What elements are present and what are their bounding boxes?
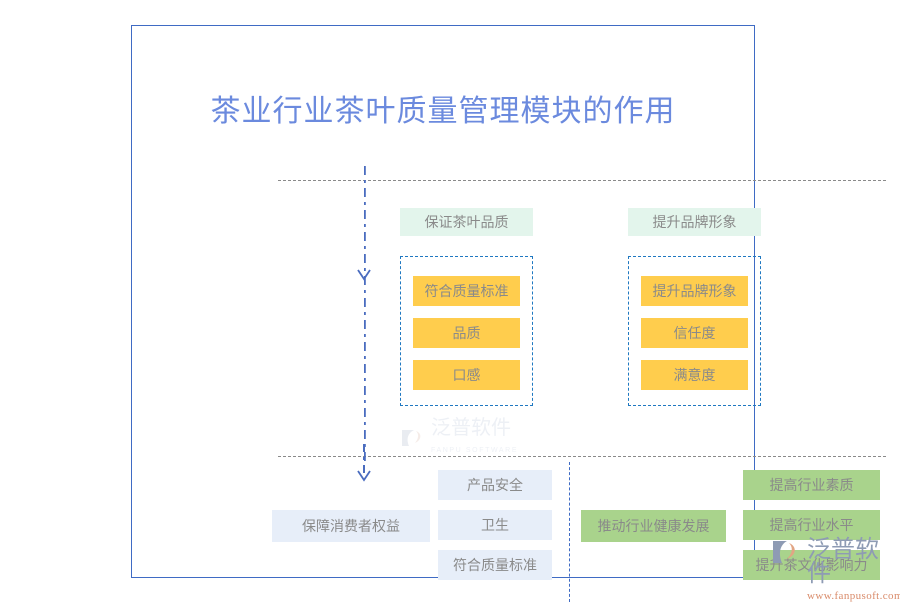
bottom-item[interactable]: 卫生 [438,510,552,540]
fanpu-logo: 泛普软件 www.fanpusoft.com [771,538,900,604]
bottom-item[interactable]: 符合质量标准 [438,550,552,580]
group-item[interactable]: 信任度 [641,318,748,348]
group-item[interactable]: 口感 [413,360,520,390]
group-item[interactable]: 提升品牌形象 [641,276,748,306]
group-item[interactable]: 品质 [413,318,520,348]
group-header-brand: 提升品牌形象 [628,208,761,236]
watermark-text-block: 泛普软件 FANPU SOFTWARE [431,418,518,457]
watermark-logo-icon [400,427,426,449]
arrow-down-icon [357,269,371,281]
group-item[interactable]: 满意度 [641,360,748,390]
vertical-divider-bottom-band [569,462,570,602]
bottom-item[interactable]: 产品安全 [438,470,552,500]
group-header-quality: 保证茶叶品质 [400,208,533,236]
watermark-sub: FANPU SOFTWARE [431,447,518,454]
watermark: 泛普软件 FANPU SOFTWARE [400,418,518,457]
fanpu-logo-brand: 泛普软件 [807,537,879,587]
watermark-brand: 泛普软件 [431,417,511,439]
page-title: 茶业行业茶叶质量管理模块的作用 [132,86,754,130]
bottom-item[interactable]: 提高行业素质 [743,470,880,500]
arrow-down-icon-lower [357,470,371,482]
bottom-main-consumer-rights[interactable]: 保障消费者权益 [272,510,430,542]
horizontal-divider-top [278,180,886,181]
diagram-frame: 茶业行业茶叶质量管理模块的作用 保证茶叶品质 符合质量标准 品质 口感 提升品牌… [131,25,755,578]
fanpu-logo-icon [771,538,801,566]
fanpu-logo-url: www.fanpusoft.com [807,590,900,602]
bottom-main-industry-development[interactable]: 推动行业健康发展 [581,510,726,542]
bottom-item[interactable]: 提高行业水平 [743,510,880,540]
vertical-flow-line [363,166,366,466]
group-item[interactable]: 符合质量标准 [413,276,520,306]
horizontal-divider-bottom [278,456,886,457]
fanpu-logo-text-block: 泛普软件 www.fanpusoft.com [807,538,900,604]
